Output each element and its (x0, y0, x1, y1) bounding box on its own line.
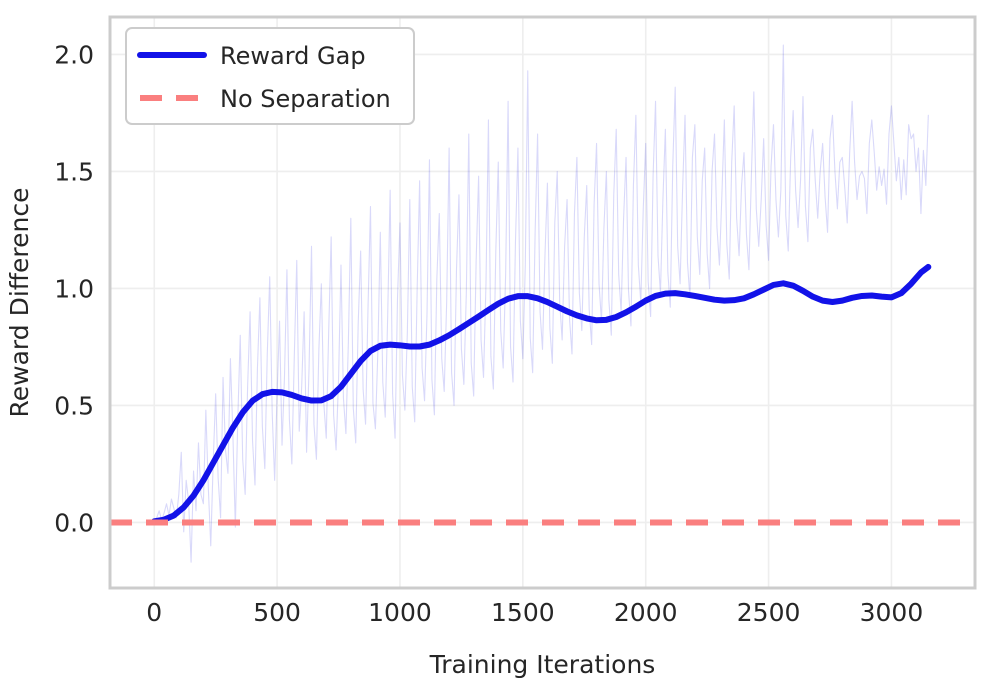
figure-container: 0500100015002000250030000.00.51.01.52.0T… (0, 0, 997, 689)
x-tick-label: 500 (253, 598, 301, 627)
x-tick-label: 1500 (491, 598, 555, 627)
x-tick-label: 2000 (614, 598, 678, 627)
y-tick-label: 1.0 (54, 274, 94, 303)
x-axis-label: Training Iterations (429, 650, 656, 679)
x-tick-label: 1000 (368, 598, 432, 627)
y-tick-label: 1.5 (54, 157, 94, 186)
y-tick-label: 2.0 (54, 40, 94, 69)
x-tick-label: 3000 (860, 598, 924, 627)
y-tick-label: 0.0 (54, 508, 94, 537)
x-tick-label: 0 (146, 598, 162, 627)
x-tick-label: 2500 (737, 598, 801, 627)
legend-label-reward-gap: Reward Gap (220, 42, 366, 70)
legend-label-no-separation: No Separation (220, 85, 391, 113)
legend: Reward GapNo Separation (126, 28, 414, 124)
reward-difference-chart: 0500100015002000250030000.00.51.01.52.0T… (0, 0, 997, 689)
y-tick-label: 0.5 (54, 391, 94, 420)
y-axis-label: Reward Difference (5, 188, 34, 418)
